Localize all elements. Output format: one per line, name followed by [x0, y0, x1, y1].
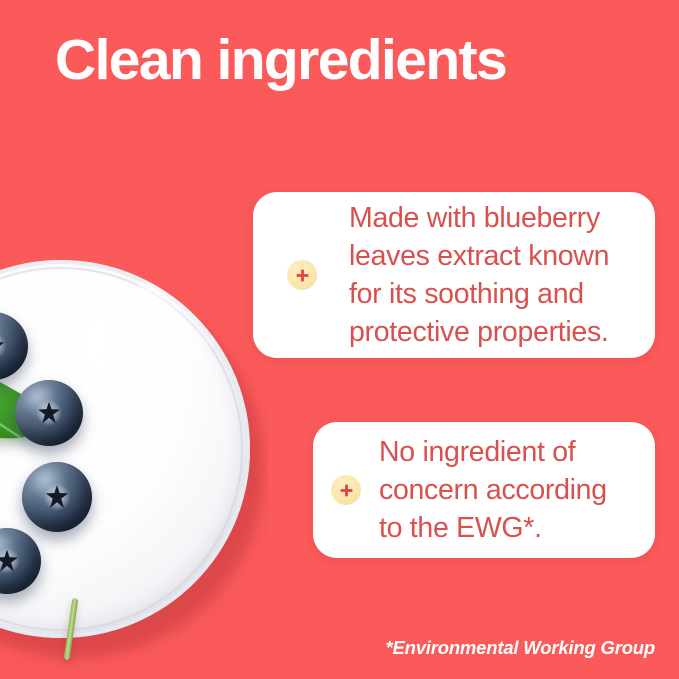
card-text-line: to the EWG*.	[379, 509, 607, 547]
card-text-line: Made with blueberry	[349, 199, 609, 237]
page-title: Clean ingredients	[55, 31, 506, 91]
feature-card-text: Made with blueberry leaves extract known…	[349, 199, 609, 351]
feature-card-text: No ingredient of concern according to th…	[379, 433, 607, 547]
plus-icon	[287, 260, 317, 290]
feature-card-ingredient: Made with blueberry leaves extract known…	[253, 192, 655, 358]
blueberry	[22, 462, 92, 532]
card-text-line: concern according	[379, 471, 607, 509]
footnote: *Environmental Working Group	[385, 637, 655, 659]
card-text-line: No ingredient of	[379, 433, 607, 471]
promo-graphic: Clean ingredients	[0, 0, 679, 679]
berry-calyx	[0, 332, 7, 359]
plus-icon	[331, 475, 361, 505]
blueberry	[15, 380, 83, 446]
card-text-line: for its soothing and	[349, 275, 609, 313]
card-text-line: leaves extract known	[349, 237, 609, 275]
feature-card-ewg: No ingredient of concern according to th…	[313, 422, 655, 558]
card-text-line: protective properties.	[349, 313, 609, 351]
product-ingredient-photo	[0, 250, 268, 679]
